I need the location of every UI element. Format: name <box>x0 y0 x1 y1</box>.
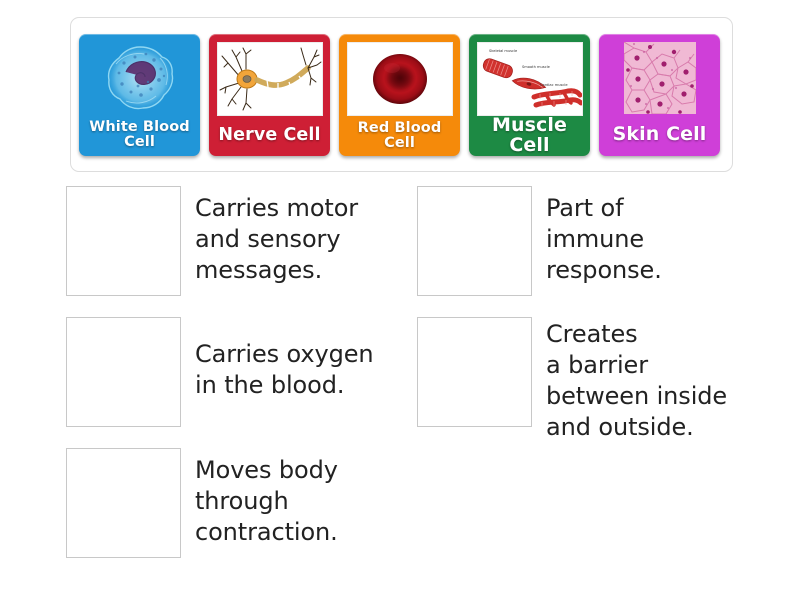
card-label-nerve-cell: Nerve Cell <box>209 116 330 156</box>
white-blood-cell-image <box>88 42 192 114</box>
drop-target-box[interactable] <box>417 317 532 427</box>
card-skin-cell[interactable]: Skin Cell <box>599 34 720 156</box>
answer-row: Carries motor and sensory messages. <box>66 186 358 296</box>
muscle-label-skeletal: Skeletal muscle <box>489 49 518 53</box>
neuron-icon <box>218 43 322 115</box>
answer-text: Moves body through contraction. <box>195 448 338 548</box>
card-muscle-cell[interactable]: Skeletal muscle Smooth muscle <box>469 34 590 156</box>
answer-row: Carries oxygen in the blood. <box>66 317 374 427</box>
answer-row: Creates a barrier between inside and out… <box>417 317 727 443</box>
answer-text: Carries oxygen in the blood. <box>195 317 374 401</box>
skin-histology-icon <box>624 42 696 114</box>
drop-target-box[interactable] <box>66 317 181 427</box>
card-red-blood-cell[interactable]: Red Blood Cell <box>339 34 460 156</box>
card-label-red-blood-cell: Red Blood Cell <box>339 116 460 156</box>
red-blood-cell-image <box>347 42 453 116</box>
muscle-label-smooth: Smooth muscle <box>522 65 551 69</box>
answer-row: Moves body through contraction. <box>66 448 338 558</box>
card-label-white-blood-cell: White Blood Cell <box>79 114 200 156</box>
nerve-cell-image <box>217 42 323 116</box>
answer-text: Carries motor and sensory messages. <box>195 186 358 286</box>
muscle-types-icon: Skeletal muscle Smooth muscle <box>478 43 582 115</box>
muscle-label-cardiac: Cardiac muscle <box>540 83 568 87</box>
white-blood-cell-icon <box>88 42 192 114</box>
answer-text: Creates a barrier between inside and out… <box>546 317 727 443</box>
erythrocyte-icon <box>348 43 452 115</box>
answer-row: Part of immune response. <box>417 186 662 296</box>
drop-target-box[interactable] <box>417 186 532 296</box>
drop-target-box[interactable] <box>66 186 181 296</box>
answer-text: Part of immune response. <box>546 186 662 286</box>
muscle-cell-image: Skeletal muscle Smooth muscle <box>477 42 583 116</box>
drop-target-box[interactable] <box>66 448 181 558</box>
card-tray: White Blood Cell <box>70 17 733 172</box>
card-label-muscle-cell: Muscle Cell <box>469 116 590 156</box>
skin-cell-image <box>608 42 712 114</box>
card-nerve-cell[interactable]: Nerve Cell <box>209 34 330 156</box>
match-up-activity: White Blood Cell <box>0 0 800 600</box>
card-label-skin-cell: Skin Cell <box>599 114 720 156</box>
card-white-blood-cell[interactable]: White Blood Cell <box>79 34 200 156</box>
